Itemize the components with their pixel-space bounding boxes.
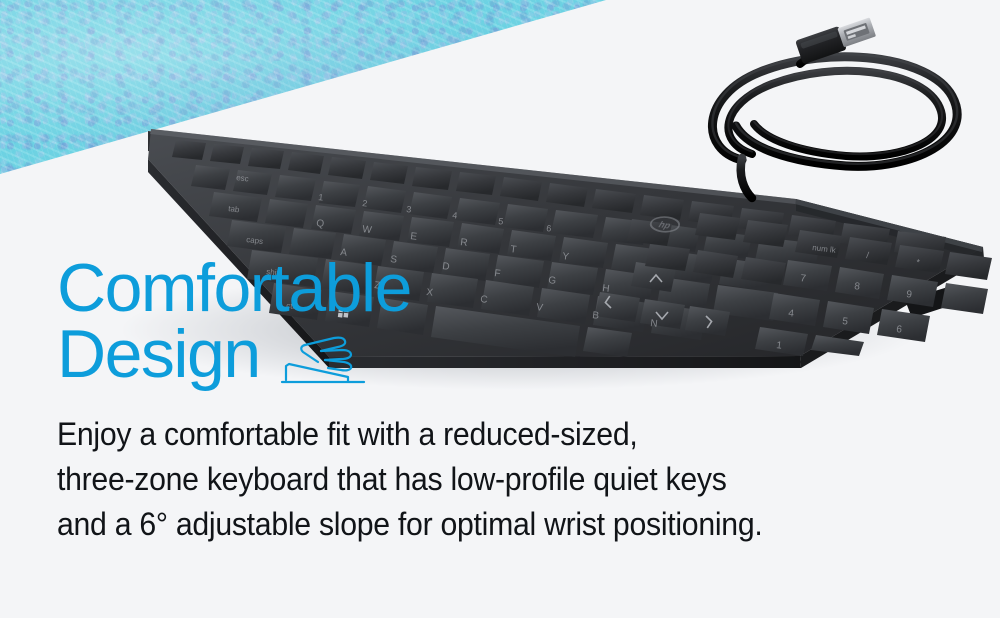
svg-text:6: 6: [896, 324, 903, 336]
panel-texture-shading: [0, 0, 606, 174]
headline-line-1: Comfortable: [57, 256, 411, 322]
hand-on-slope-icon: [276, 333, 372, 387]
key-cluster-navigation: [627, 213, 788, 285]
headline-line-2: Design: [57, 322, 260, 388]
svg-text:G: G: [548, 275, 557, 287]
body-line-1: Enjoy a comfortable fit with a reduced-s…: [57, 412, 762, 457]
key-cluster-arrows: [595, 262, 730, 336]
svg-text:1: 1: [776, 340, 783, 352]
body-line-3: and a 6° adjustable slope for optimal wr…: [57, 502, 762, 547]
body-copy: Enjoy a comfortable fit with a reduced-s…: [57, 412, 762, 547]
svg-text:D: D: [442, 261, 451, 273]
svg-text:R: R: [460, 237, 469, 249]
svg-text:8: 8: [854, 281, 861, 293]
svg-text:C: C: [480, 294, 489, 306]
marketing-banner: 1 2 3 4 5 6 Q W E R T Y A S D F G: [0, 0, 1000, 618]
svg-text:Y: Y: [562, 251, 570, 263]
svg-text:X: X: [426, 287, 434, 299]
svg-text:N: N: [650, 318, 659, 330]
svg-text:2: 2: [362, 198, 368, 209]
key-row-function: [172, 140, 946, 258]
svg-text:T: T: [510, 244, 517, 256]
svg-text:num lk: num lk: [812, 243, 837, 255]
svg-text:E: E: [410, 231, 418, 243]
key-cluster-numpad: [755, 230, 992, 356]
svg-text:5: 5: [842, 316, 849, 328]
svg-text:hp: hp: [657, 220, 672, 231]
svg-text:4: 4: [452, 210, 458, 221]
svg-text:9: 9: [906, 289, 913, 301]
svg-text:/: /: [866, 250, 870, 260]
svg-text:Q: Q: [316, 218, 325, 230]
headline-line-2-row: Design: [57, 322, 411, 388]
svg-text:tab: tab: [228, 204, 241, 214]
svg-text:esc: esc: [236, 173, 249, 183]
svg-text:3: 3: [406, 204, 412, 215]
svg-text:W: W: [362, 224, 373, 236]
svg-text:F: F: [494, 268, 501, 280]
body-line-2: three-zone keyboard that has low-profile…: [57, 457, 762, 502]
svg-text:*: *: [916, 257, 921, 267]
svg-text:6: 6: [546, 223, 552, 234]
svg-text:caps: caps: [246, 235, 264, 246]
key-space: [431, 306, 580, 357]
headline: Comfortable Design: [57, 256, 411, 388]
svg-text:4: 4: [788, 308, 795, 320]
svg-text:V: V: [536, 302, 544, 314]
hp-logo: hp: [648, 216, 681, 234]
teal-background-panel: [0, 0, 606, 174]
svg-text:7: 7: [800, 273, 807, 285]
svg-text:1: 1: [318, 192, 324, 203]
svg-text:H: H: [602, 283, 611, 295]
svg-text:B: B: [592, 310, 600, 322]
usb-a-connector: [795, 15, 877, 64]
svg-text:5: 5: [498, 216, 504, 227]
usb-cable: [712, 50, 957, 198]
